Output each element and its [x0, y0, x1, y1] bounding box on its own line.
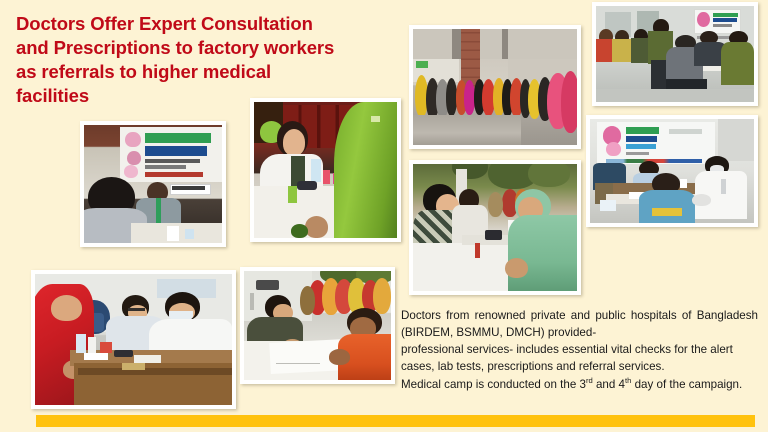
body-line-3-post: day of the campaign. — [631, 378, 742, 391]
photo-queue — [409, 25, 581, 149]
photo-office-consult — [31, 270, 236, 409]
photo-outdoor-desk — [409, 160, 581, 295]
body-line-3-pre: Medical camp is conducted on the 3 — [401, 378, 586, 391]
ordinal-3rd: rd — [586, 376, 593, 385]
page-title: Doctors Offer Expert Consultation and Pr… — [16, 12, 406, 108]
body-line-3-mid: and 4 — [593, 378, 625, 391]
photo-tent-desk — [240, 267, 395, 384]
body-line-1: Doctors from renowned private and public… — [401, 307, 758, 341]
photo-banner-consult — [80, 121, 226, 247]
photo-image — [244, 271, 391, 380]
photo-image — [254, 102, 397, 238]
photo-image — [35, 274, 232, 405]
body-line-3: Medical camp is conducted on the 3rd and… — [401, 375, 758, 393]
body-line-2: professional services- includes essentia… — [401, 341, 758, 375]
body-paragraph: Doctors from renowned private and public… — [401, 307, 758, 393]
photo-group-camp — [592, 2, 758, 106]
photo-doctor-writing — [250, 98, 401, 242]
photo-image — [590, 119, 754, 223]
accent-bar-bottom — [36, 415, 755, 427]
photo-clinic-room — [586, 115, 758, 227]
slide-canvas: Doctors Offer Expert Consultation and Pr… — [0, 0, 768, 432]
photo-image — [596, 6, 754, 102]
photo-image — [413, 164, 577, 291]
photo-image — [84, 125, 222, 243]
photo-image — [413, 29, 577, 145]
